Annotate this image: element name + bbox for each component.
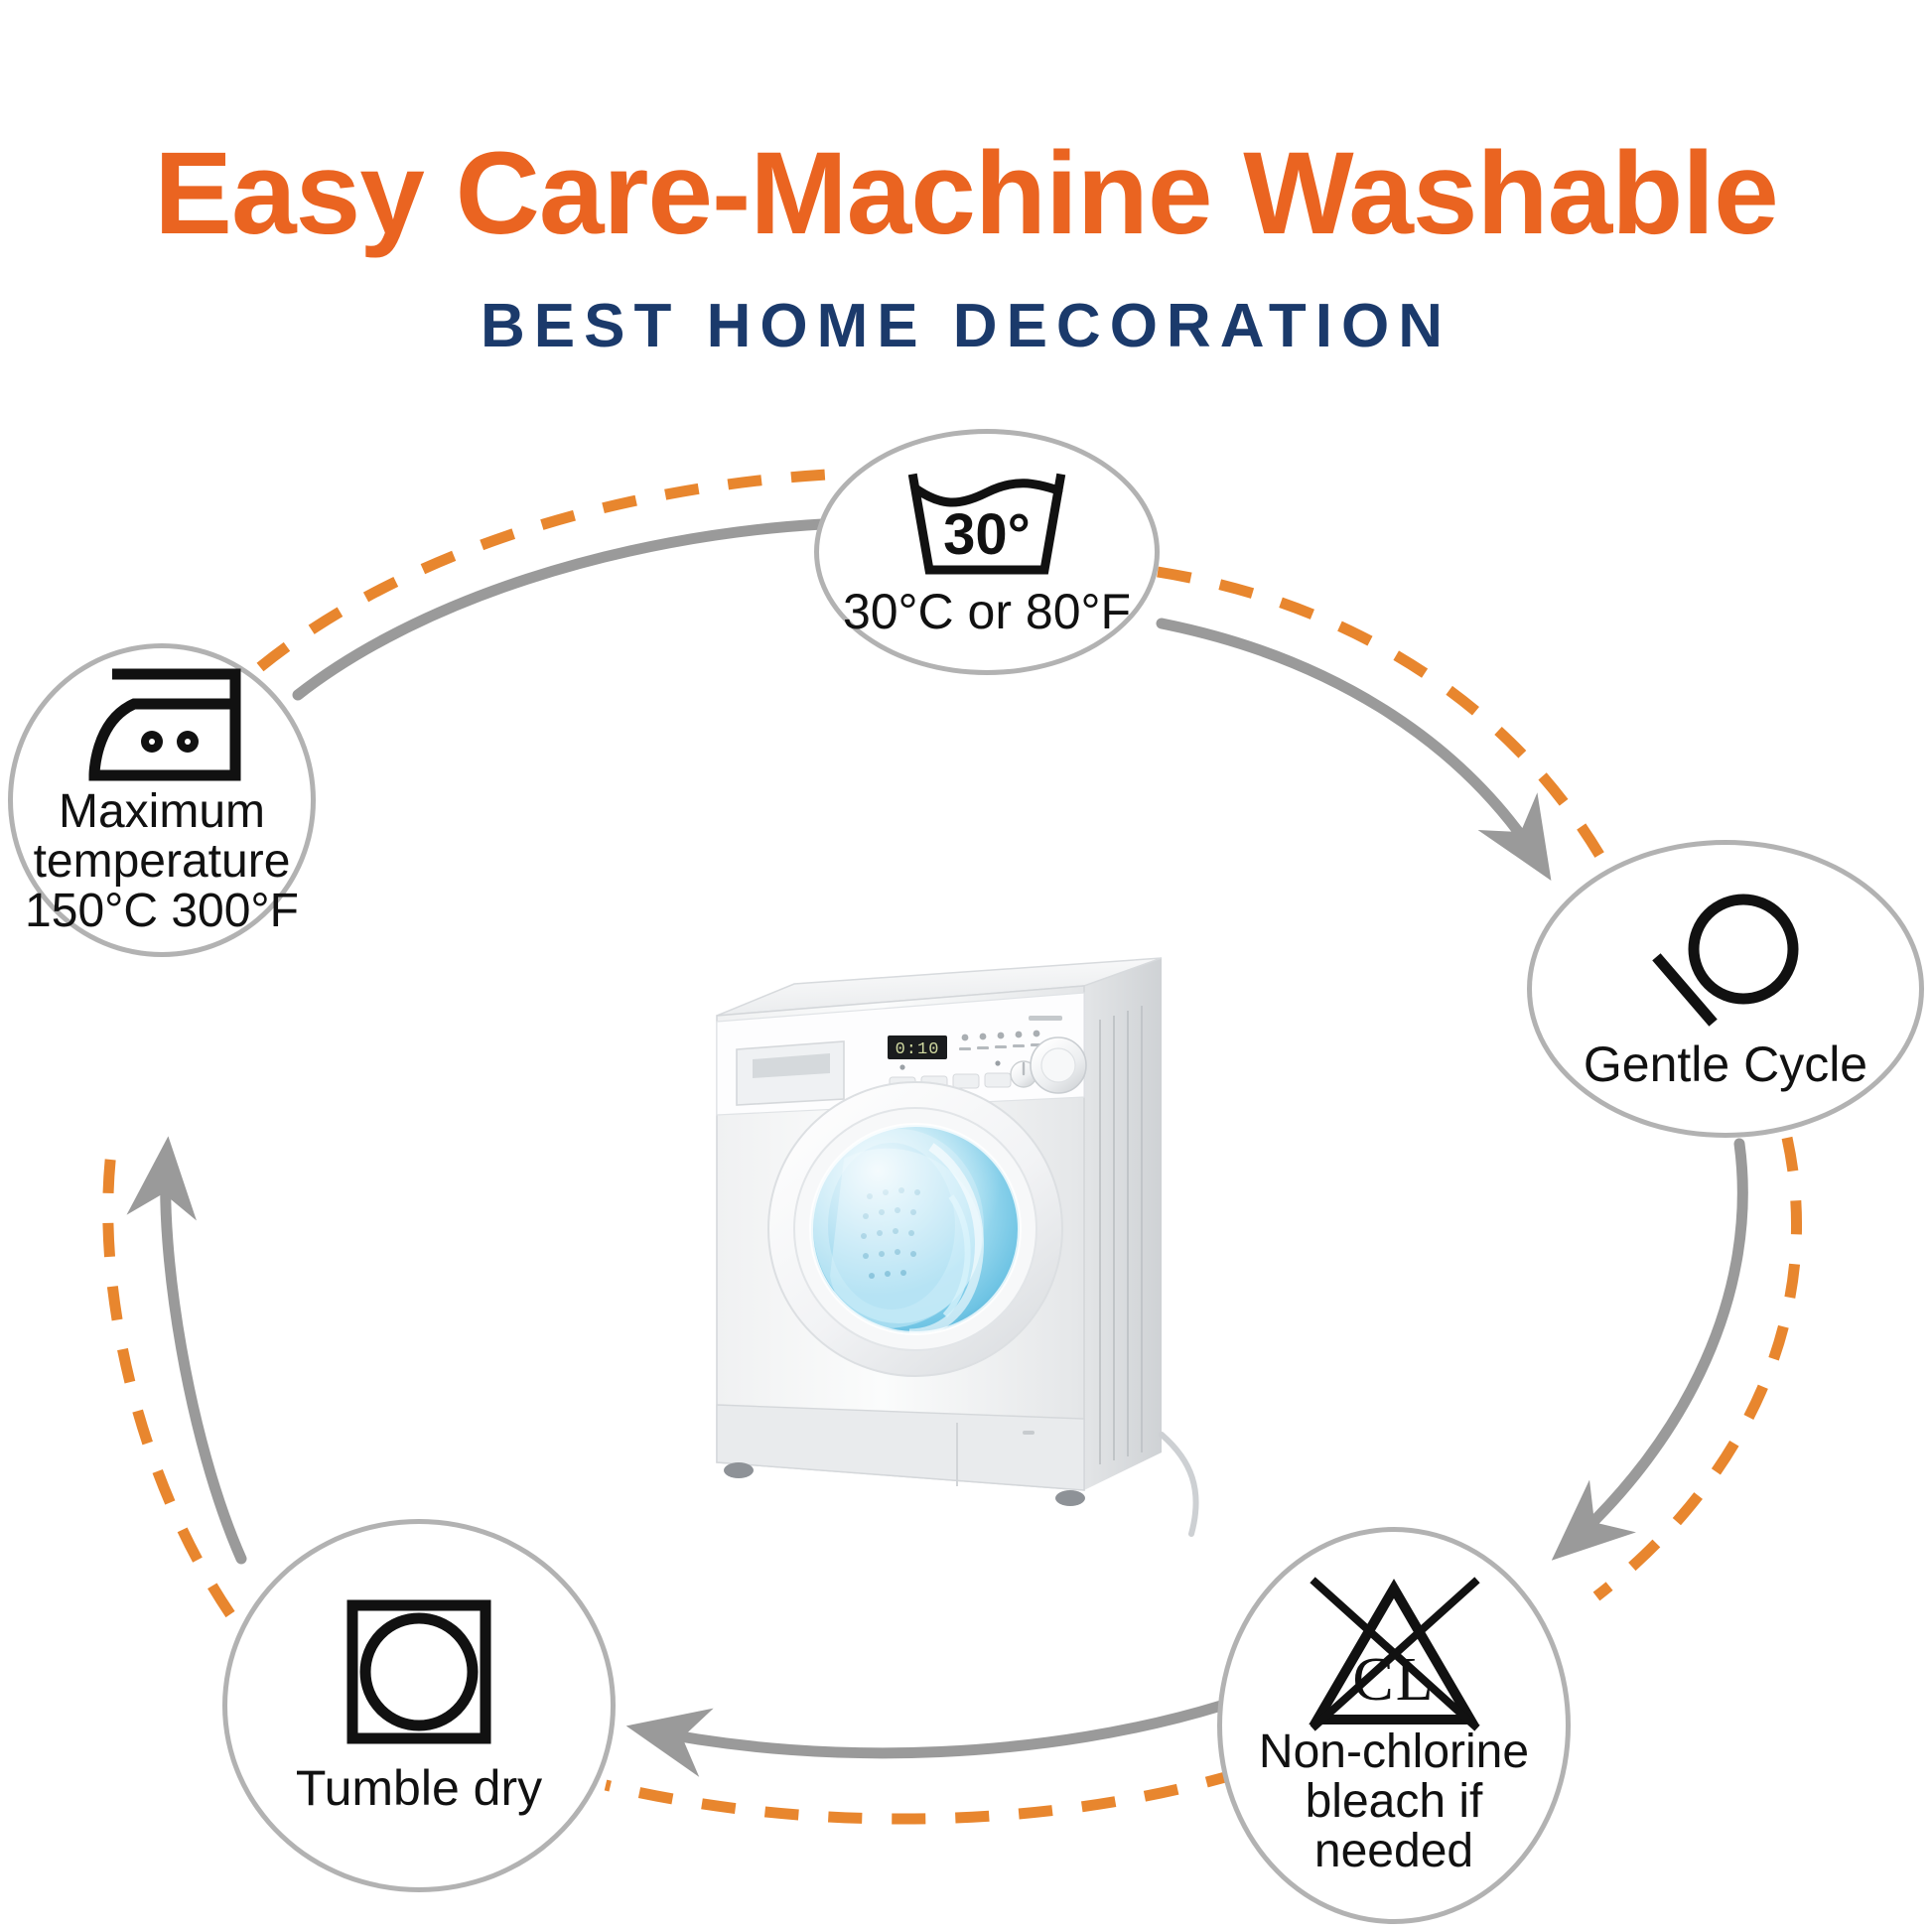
dashed-arc-wash-to-gentle (1158, 572, 1602, 860)
care-node-bleach-caption: Non-chlorine bleach if needed (1259, 1727, 1529, 1876)
non-chlorine-bleach-icon: CL (1300, 1575, 1488, 1733)
machine-brand-mark (1029, 1016, 1062, 1021)
dashed-arc-gentle-to-bleach (1596, 1138, 1797, 1596)
machine-base-plinth (717, 1405, 1084, 1490)
connector-iron-to-wash (298, 524, 822, 695)
care-node-gentle-caption: Gentle Cycle (1584, 1038, 1867, 1090)
care-node-tumble-dry[interactable]: Tumble dry (222, 1519, 616, 1892)
machine-filter-latch (1023, 1431, 1035, 1435)
care-node-wash-caption: 30°C or 80°F (843, 586, 1131, 637)
care-instructions-infographic: Easy Care-Machine Washable BEST HOME DEC… (0, 0, 1932, 1932)
machine-foot-left (724, 1462, 754, 1478)
machine-foot-right (1055, 1490, 1085, 1506)
iron-two-dots-icon (72, 664, 251, 783)
wash-tub-30-icon: 30° (890, 467, 1084, 582)
care-cycle-diagram: 0:10 (0, 0, 1932, 1932)
care-node-non-chlorine-bleach[interactable]: CL Non-chlorine bleach if needed (1217, 1527, 1571, 1924)
connector-tumble-to-iron (166, 1154, 241, 1559)
tumble-dry-icon (345, 1597, 493, 1746)
connector-gentle-to-bleach (1565, 1144, 1742, 1549)
machine-side-panel (1084, 958, 1162, 1490)
dashed-arc-bleach-to-tumble (606, 1773, 1239, 1819)
machine-display-value: 0:10 (896, 1040, 940, 1059)
machine-power-cord (1162, 1435, 1196, 1534)
care-node-iron-temperature[interactable]: Maximum temperature 150°C 300°F (8, 643, 316, 957)
wash-temperature-value: 30° (943, 502, 1031, 567)
care-node-wash-temperature[interactable]: 30° 30°C or 80°F (814, 429, 1160, 675)
machine-program-dial-inner (1041, 1048, 1075, 1082)
connector-bleach-to-tumble (643, 1706, 1221, 1753)
front-load-washing-machine: 0:10 (695, 898, 1291, 1554)
care-node-gentle-cycle[interactable]: Gentle Cycle (1527, 840, 1924, 1138)
care-node-iron-caption: Maximum temperature 150°C 300°F (25, 787, 299, 936)
connector-wash-to-gentle (1162, 623, 1542, 866)
care-node-tumble-caption: Tumble dry (296, 1762, 542, 1814)
gentle-cycle-icon (1636, 888, 1815, 1036)
